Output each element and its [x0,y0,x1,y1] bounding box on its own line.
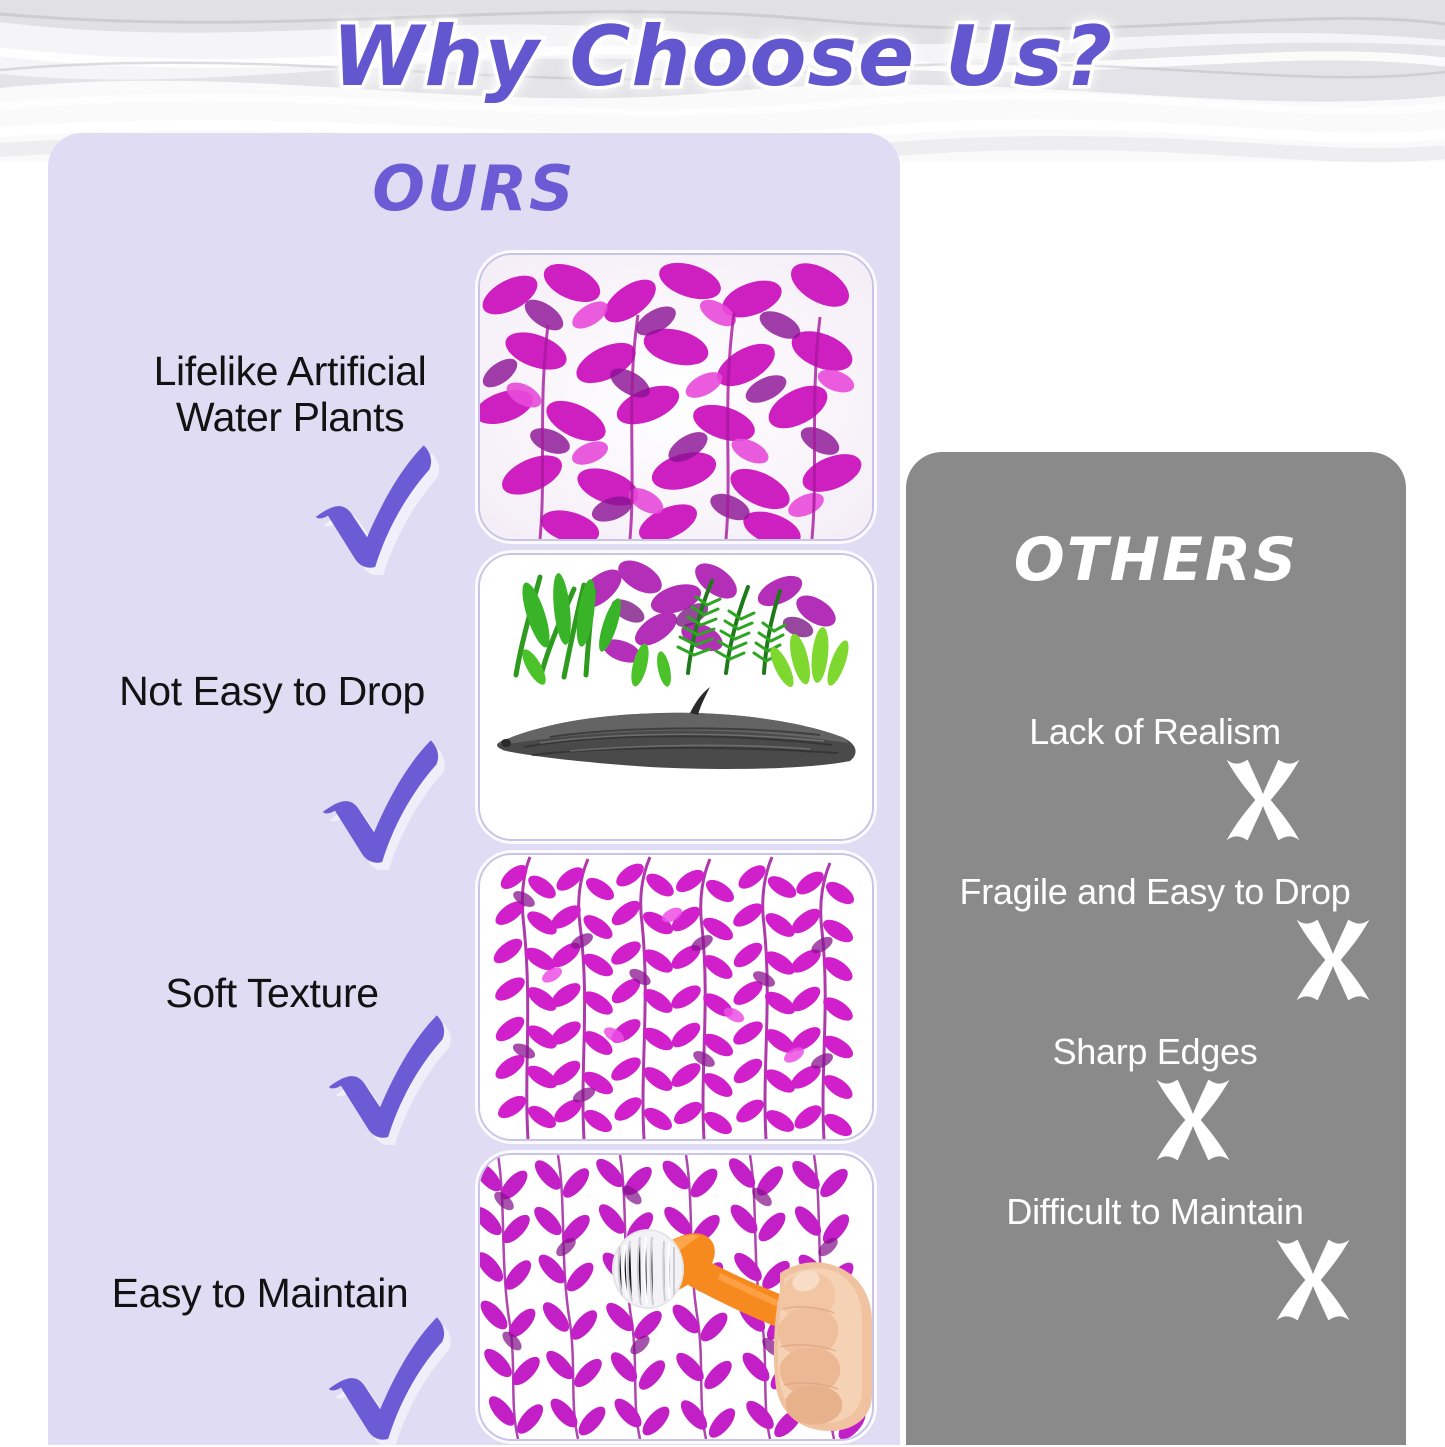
ours-feature-label-line-1: Lifelike Artificial [154,348,427,394]
others-drawback-label-3: Sharp Edges [920,1032,1390,1072]
ours-feature-image-1 [478,253,874,541]
x-icon [1285,912,1381,1008]
check-icon [318,1010,453,1145]
x-icon [1215,752,1311,848]
x-icon [1145,1072,1241,1168]
ours-feature-image-2 [478,553,874,841]
page-title: Why Choose Us? [332,8,1113,105]
others-drawback-label-2: Fragile and Easy to Drop [920,872,1390,912]
ours-feature-label-line-2: Water Plants [176,394,404,440]
check-icon [305,440,440,575]
others-heading: OTHERS [906,525,1406,595]
page-title-wrapper: Why Choose Us? [0,8,1445,105]
ours-feature-image-4 [478,1153,874,1441]
ours-feature-label-1: Lifelike Artificial Water Plants [80,348,500,441]
ours-feature-image-3 [478,853,874,1141]
x-icon [1265,1232,1361,1328]
check-icon [318,1312,453,1447]
ours-feature-label-2: Not Easy to Drop [62,668,482,714]
ours-feature-label-4: Easy to Maintain [50,1270,470,1316]
check-icon [312,735,447,870]
others-drawback-label-1: Lack of Realism [920,712,1390,752]
ours-heading: OURS [48,152,900,225]
others-drawback-label-4: Difficult to Maintain [920,1192,1390,1232]
